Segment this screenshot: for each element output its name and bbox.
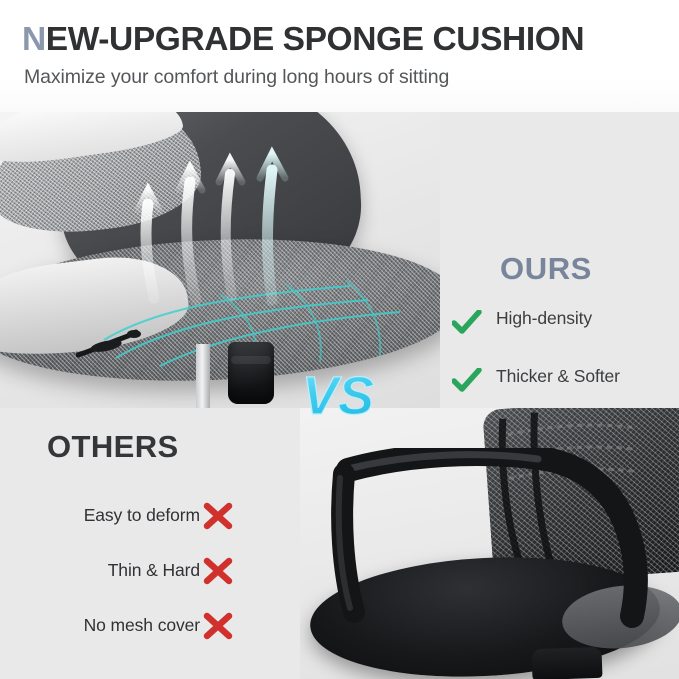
title-accent-letter: N xyxy=(22,21,46,58)
ours-feature-list: High-density Thicker & Softer Breathable… xyxy=(452,308,677,408)
list-item-label: Easy to deform xyxy=(84,505,200,526)
list-item: High-density xyxy=(452,308,677,354)
x-icon xyxy=(201,501,235,531)
product-comparison-infographic: NEW-UPGRADE SPONGE CUSHION Maximize your… xyxy=(0,0,679,679)
list-item: No mesh cover xyxy=(10,598,235,653)
list-item-label: Thicker & Softer xyxy=(496,366,620,387)
page-subtitle: Maximize your comfort during long hours … xyxy=(24,66,449,89)
chair-base-hub xyxy=(531,647,602,679)
list-item: Thin & Hard xyxy=(10,543,235,598)
x-icon xyxy=(201,556,235,586)
list-item: Easy to deform xyxy=(10,488,235,543)
others-feature-list: Easy to deform Thin & Hard No mesh cover xyxy=(10,488,235,653)
check-icon xyxy=(452,310,482,336)
ours-heading: OURS xyxy=(500,251,592,287)
list-item-label: High-density xyxy=(496,308,592,329)
others-panel: OTHERS Easy to deform Thin & Hard No mes… xyxy=(0,408,679,679)
list-item: Thicker & Softer xyxy=(452,366,677,408)
black-office-chair-photo xyxy=(300,408,679,679)
chair-gas-cylinder xyxy=(196,344,210,408)
page-title: NEW-UPGRADE SPONGE CUSHION xyxy=(22,21,584,59)
vs-label: VS xyxy=(302,366,374,426)
airflow-arrows xyxy=(120,130,320,310)
list-item-label: Thin & Hard xyxy=(108,560,200,581)
check-icon xyxy=(452,368,482,394)
vs-badge: VS xyxy=(288,364,388,426)
header-banner: NEW-UPGRADE SPONGE CUSHION Maximize your… xyxy=(0,0,679,112)
chair-height-knob xyxy=(228,342,274,404)
title-text: EW-UPGRADE SPONGE CUSHION xyxy=(46,21,584,58)
chair-armrest xyxy=(330,448,660,653)
x-icon xyxy=(201,611,235,641)
list-item-label: No mesh cover xyxy=(84,615,200,636)
others-heading: OTHERS xyxy=(47,429,179,465)
chair-adjustment-lever xyxy=(76,328,172,358)
